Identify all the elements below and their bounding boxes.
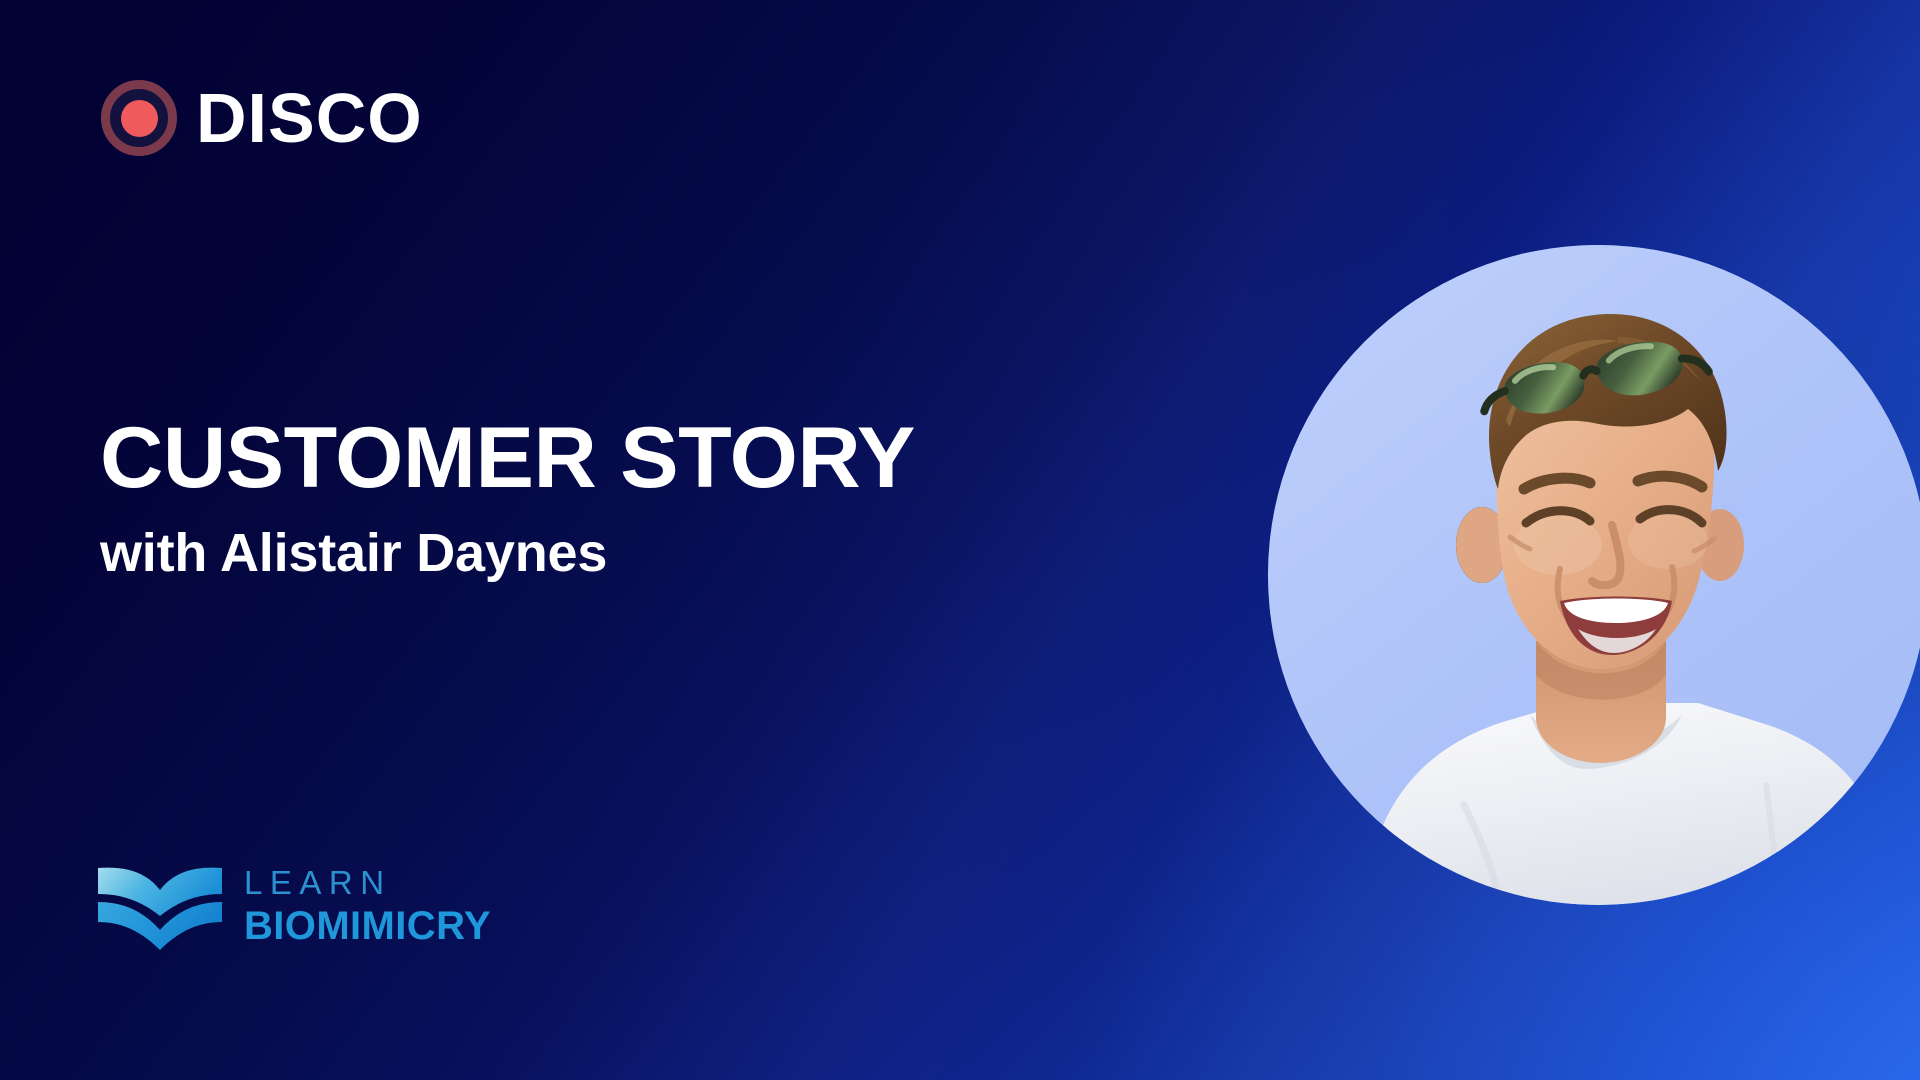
- customer-story-banner: DISCO CUSTOMER STORY with Alistair Dayne…: [0, 0, 1920, 1080]
- learn-biomimicry-line2: BIOMIMICRY: [244, 906, 491, 946]
- learn-biomimicry-wordmark: LEARN BIOMIMICRY: [244, 866, 491, 946]
- disco-wordmark: DISCO: [196, 83, 423, 153]
- learn-biomimicry-line1: LEARN: [244, 866, 491, 899]
- headline-block: CUSTOMER STORY with Alistair Daynes: [100, 415, 899, 582]
- learn-biomimicry-logo[interactable]: LEARN BIOMIMICRY: [96, 860, 491, 952]
- page-title: CUSTOMER STORY: [100, 415, 915, 501]
- open-book-wings-icon: [96, 860, 224, 952]
- concentric-circle-target-icon: [101, 80, 177, 156]
- target-center-dot-icon: [121, 100, 158, 137]
- avatar: [1268, 245, 1920, 905]
- portrait-illustration: [1268, 245, 1920, 905]
- disco-brand-logo[interactable]: DISCO: [101, 80, 423, 156]
- page-subtitle: with Alistair Daynes: [100, 525, 899, 582]
